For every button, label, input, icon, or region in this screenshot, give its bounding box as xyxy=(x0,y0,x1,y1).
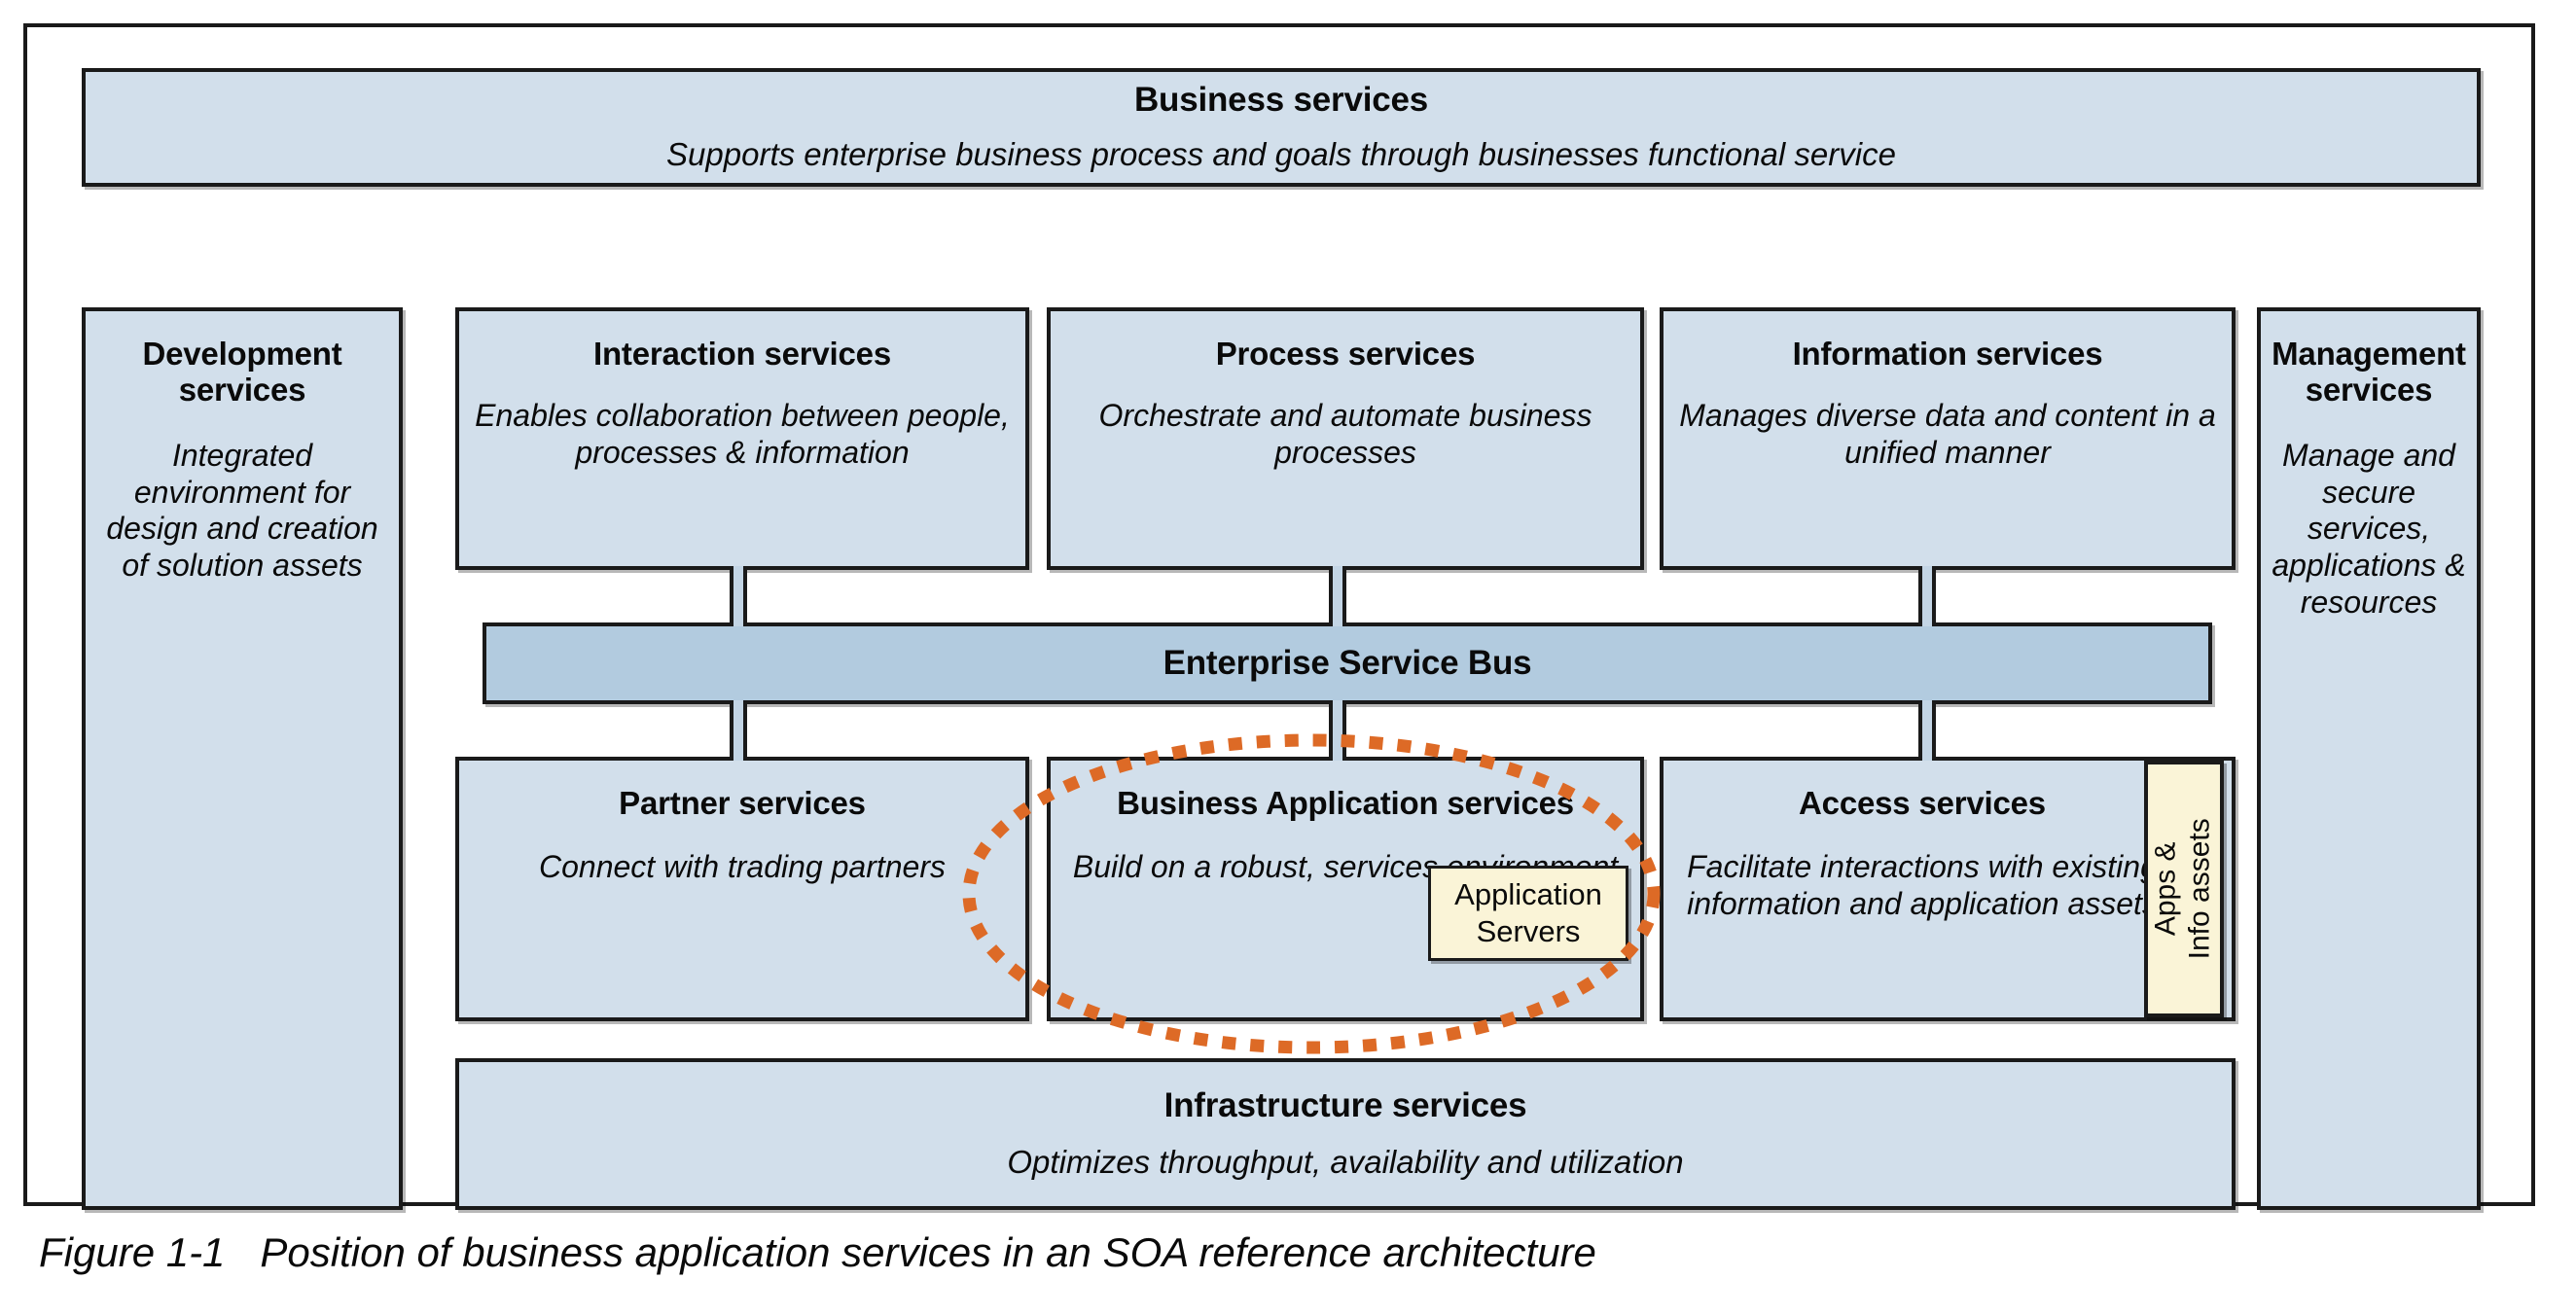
connector-pipe-esb-to-access xyxy=(1918,700,1936,761)
interaction-services-description: Enables collaboration between people, pr… xyxy=(471,398,1014,472)
connector-pipe-information-to-esb xyxy=(1918,566,1936,626)
development-services-description: Integrated environment for design and cr… xyxy=(99,438,385,585)
layer-information-services[interactable]: Information services Manages diverse dat… xyxy=(1660,307,2236,570)
connector-pipe-esb-to-partner xyxy=(730,700,747,761)
business-application-services-title: Business Application services xyxy=(1117,786,1574,822)
information-services-description: Manages diverse data and content in a un… xyxy=(1675,398,2220,472)
enterprise-service-bus[interactable]: Enterprise Service Bus xyxy=(483,622,2212,704)
apps-info-assets-line1: Apps & xyxy=(2150,818,2184,959)
infrastructure-services-title: Infrastructure services xyxy=(1164,1086,1527,1124)
access-services-description: Facilitate interactions with existing in… xyxy=(1675,849,2169,923)
information-services-title: Information services xyxy=(1793,337,2103,373)
access-services-title: Access services xyxy=(1799,786,2046,822)
figure-root: Business services Supports enterprise bu… xyxy=(0,0,2576,1315)
process-services-title: Process services xyxy=(1216,337,1476,373)
figure-caption: Figure 1-1Position of business applicati… xyxy=(39,1229,2529,1276)
management-services-title: Management services xyxy=(2271,337,2467,409)
business-services-title: Business services xyxy=(1134,81,1428,119)
connector-pipe-interaction-to-esb xyxy=(730,566,747,626)
layer-business-services[interactable]: Business services Supports enterprise bu… xyxy=(82,68,2481,187)
infrastructure-services-description: Optimizes throughput, availability and u… xyxy=(1007,1144,1683,1182)
development-services-title: Development services xyxy=(99,337,385,409)
layer-process-services[interactable]: Process services Orchestrate and automat… xyxy=(1047,307,1644,570)
layer-infrastructure-services[interactable]: Infrastructure services Optimizes throug… xyxy=(455,1058,2236,1210)
apps-info-assets-line2: Info assets xyxy=(2184,818,2218,959)
apps-info-assets-text: Apps & Info assets xyxy=(2150,818,2218,959)
apps-and-info-assets-callout[interactable]: Apps & Info assets xyxy=(2144,761,2224,1017)
application-servers-line2: Servers xyxy=(1477,913,1581,950)
partner-services-title: Partner services xyxy=(619,786,866,822)
enterprise-service-bus-title: Enterprise Service Bus xyxy=(1163,644,1532,682)
interaction-services-title: Interaction services xyxy=(593,337,891,373)
layer-management-services[interactable]: Management services Manage and secure se… xyxy=(2257,307,2481,1210)
application-servers-line1: Application xyxy=(1454,876,1602,913)
application-servers-callout[interactable]: Application Servers xyxy=(1428,866,1628,961)
layer-development-services[interactable]: Development services Integrated environm… xyxy=(82,307,403,1210)
diagram-frame: Business services Supports enterprise bu… xyxy=(23,23,2535,1206)
partner-services-description: Connect with trading partners xyxy=(539,849,946,886)
layer-partner-services[interactable]: Partner services Connect with trading pa… xyxy=(455,757,1029,1021)
figure-caption-number: Figure 1-1 xyxy=(39,1229,225,1275)
connector-pipe-process-to-esb xyxy=(1329,566,1346,626)
process-services-description: Orchestrate and automate business proces… xyxy=(1062,398,1628,472)
connector-pipe-esb-to-business-application xyxy=(1329,700,1346,761)
figure-caption-text: Position of business application service… xyxy=(260,1229,1596,1275)
management-services-description: Manage and secure services, applications… xyxy=(2271,438,2467,622)
layer-interaction-services[interactable]: Interaction services Enables collaborati… xyxy=(455,307,1029,570)
business-services-description: Supports enterprise business process and… xyxy=(666,136,1896,174)
